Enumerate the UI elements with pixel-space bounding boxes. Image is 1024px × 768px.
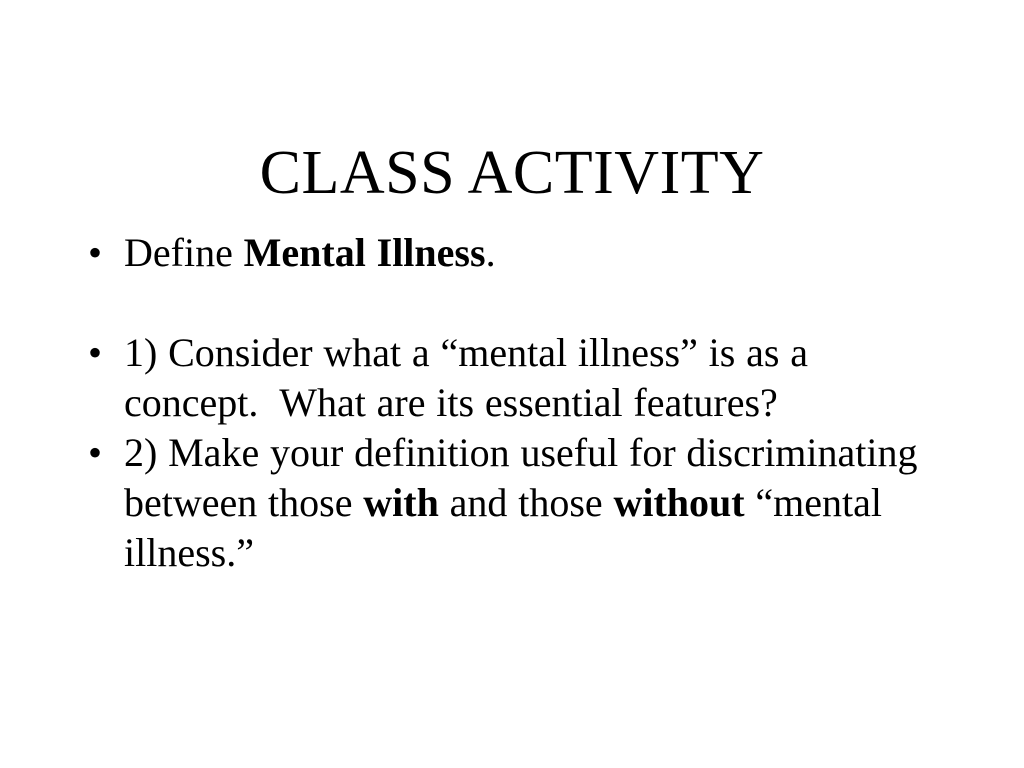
plain-text: Define xyxy=(124,230,244,275)
presentation-slide: CLASS ACTIVITY •Define Mental Illness.•1… xyxy=(0,0,1024,768)
plain-text: . xyxy=(486,230,496,275)
list-item: •Define Mental Illness. xyxy=(86,228,962,278)
list-item-text: Define Mental Illness. xyxy=(124,228,962,278)
bullet-point-icon: • xyxy=(86,428,124,478)
list-item-text: 2) Make your definition useful for discr… xyxy=(124,428,962,578)
emphasis-text: with xyxy=(363,480,439,525)
plain-text: and those xyxy=(439,480,614,525)
bullet-spacer xyxy=(86,278,962,328)
list-item-text: 1) Consider what a “mental illness” is a… xyxy=(124,328,962,428)
plain-text: 1) Consider what a “mental illness” is a… xyxy=(124,330,808,425)
bullet-list: •Define Mental Illness.•1) Consider what… xyxy=(86,228,962,578)
page-title: CLASS ACTIVITY xyxy=(0,138,1024,208)
list-item: •1) Consider what a “mental illness” is … xyxy=(86,328,962,428)
emphasis-text: Mental Illness xyxy=(244,230,486,275)
bullet-point-icon: • xyxy=(86,228,124,278)
emphasis-text: without xyxy=(613,480,744,525)
list-item: •2) Make your definition useful for disc… xyxy=(86,428,962,578)
bullet-point-icon: • xyxy=(86,328,124,378)
